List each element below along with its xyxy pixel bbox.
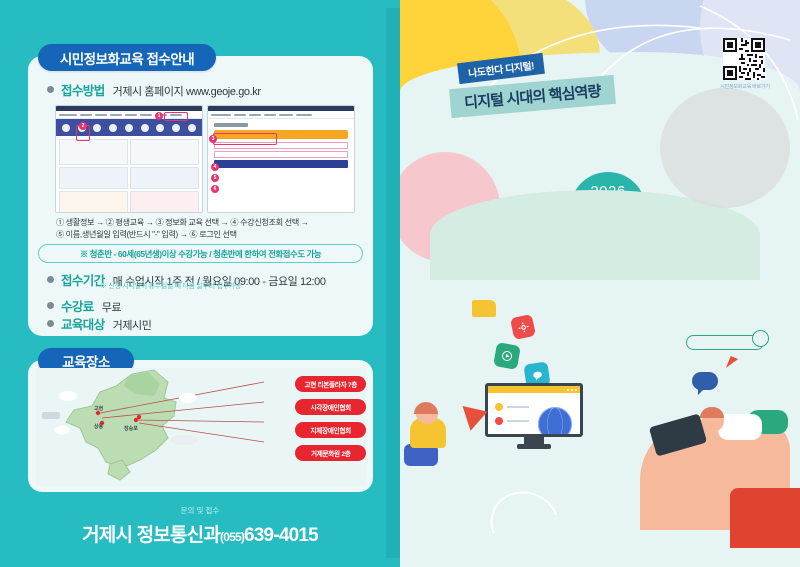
step-marker-4: 4	[211, 163, 219, 171]
site-nav	[208, 111, 354, 119]
person-pushing-arrow	[404, 404, 452, 464]
monitor-screen	[485, 383, 583, 437]
highlight-apply-button	[213, 133, 277, 145]
period-note: ※ 신청 시작일이 휴무일일 때 다음 날부터 접수가능	[100, 281, 241, 291]
svg-text:장승포: 장승포	[124, 425, 138, 432]
homepage-widgets	[56, 136, 202, 213]
list-dot-icon	[495, 417, 503, 425]
person-body	[718, 414, 762, 440]
highlight-nav-item	[164, 112, 188, 121]
qr-caption: 시민정보화교육 바로가기	[700, 84, 790, 92]
bullet-icon	[47, 276, 54, 283]
search-icon	[752, 330, 769, 347]
decorative-blob	[660, 88, 790, 208]
list-line	[507, 420, 529, 422]
contact-phone: 639-4015	[244, 525, 318, 546]
pointer-cursor-icon	[726, 356, 738, 371]
qr-code[interactable]	[723, 38, 765, 80]
globe-icon	[538, 407, 572, 437]
notice-banner: ※ 청춘반 - 60세(65년생)이상 수강가능 / 청춘반에 한하여 전화접수…	[38, 244, 363, 263]
location-label: 고현 리본플라자 7층	[295, 376, 366, 392]
contact-caption: 문의 및 접수	[0, 505, 400, 516]
birthdate-field	[214, 151, 348, 158]
settings-tile-icon	[510, 314, 536, 340]
person-hair	[700, 407, 724, 418]
contact-area-code: (055)	[220, 530, 244, 544]
monitor-base	[517, 444, 551, 449]
page-heading-bar	[208, 119, 354, 127]
brochure-page: 시민정보화교육 접수안내 접수방법 거제시 홈페이지 www.geoje.go.…	[0, 0, 800, 567]
target-value: 거제시민	[113, 317, 152, 333]
monitor-illustration	[485, 383, 583, 447]
speech-bubble-icon	[530, 368, 545, 383]
monitor-stand	[524, 437, 544, 444]
bullet-icon	[47, 86, 54, 93]
svg-text:상동: 상동	[94, 423, 104, 430]
gear-icon	[516, 320, 529, 333]
bullet-icon	[47, 320, 54, 327]
steps-line-1: ① 생활정보 → ② 평생교육 → ③ 정보화 교육 선택 → ④ 수강신청조회…	[56, 217, 356, 229]
method-row: 접수방법 거제시 홈페이지 www.geoje.go.kr	[47, 80, 261, 99]
location-label: 거제문화원 2층	[295, 445, 366, 461]
contact-department: 거제시 정보통신과	[82, 525, 220, 546]
target-label: 교육대상	[61, 314, 105, 333]
screenshot-homepage: 1 2	[55, 105, 203, 213]
location-label: 지체장애인협회	[295, 422, 366, 438]
contact-block: 문의 및 접수 거제시 정보통신과(055)639-4015	[0, 505, 400, 547]
person-on-phone	[692, 406, 782, 456]
map-location-labels: 고현 리본플라자 7층 시각장애인협회 지체장애인협회 거제문화원 2층	[295, 376, 366, 461]
contact-line: 거제시 정보통신과(055)639-4015	[0, 520, 400, 547]
fee-label: 수강료	[61, 296, 94, 315]
target-row: 교육대상 거제시민	[47, 314, 152, 333]
period-label: 접수기간	[61, 270, 105, 289]
step-marker-6: 6	[211, 185, 219, 193]
list-line	[507, 406, 529, 408]
geoje-map: 고현 상동 장승포 고현 리본플라자 7층 시각장애인협회 지체장애인협회 거제…	[36, 368, 366, 486]
person-hair	[414, 402, 438, 414]
website-screenshots: 1 2 3 4 5 6	[55, 105, 355, 213]
step-marker-5: 5	[211, 174, 219, 182]
speech-bubble-icon	[692, 372, 718, 390]
steps-text: ① 생활정보 → ② 평생교육 → ③ 정보화 교육 선택 → ④ 수강신청조회…	[56, 217, 356, 242]
registration-badge: 시민정보화교육 접수안내	[38, 44, 216, 71]
left-panel: 시민정보화교육 접수안내 접수방법 거제시 홈페이지 www.geoje.go.…	[0, 0, 400, 567]
steps-line-2: ⑤ 이름,생년월일 입력(반드시 "-" 입력) → ⑥ 로그인 선택	[56, 229, 356, 241]
play-icon	[500, 349, 514, 363]
method-label: 접수방법	[61, 80, 105, 99]
step-marker-2: 2	[79, 122, 87, 130]
fee-value: 무료	[102, 299, 121, 315]
location-label: 시각장애인협회	[295, 399, 366, 415]
sleeve	[730, 488, 800, 548]
browser-chrome-bar	[488, 386, 580, 393]
fee-row: 수강료 무료	[47, 296, 121, 315]
login-button	[214, 160, 348, 168]
method-value: 거제시 홈페이지 www.geoje.go.kr	[113, 83, 261, 99]
panel-edge	[386, 8, 400, 558]
decorative-swirl	[480, 480, 570, 567]
screenshot-application: 3 4 5 6	[207, 105, 355, 213]
folder-icon	[472, 300, 496, 317]
qr-code-icon	[723, 38, 765, 80]
list-dot-icon	[495, 403, 503, 411]
step-marker-3: 3	[209, 135, 217, 143]
svg-text:고현: 고현	[94, 405, 104, 412]
step-marker-1: 1	[155, 112, 163, 120]
bullet-icon	[47, 302, 54, 309]
video-tile-icon	[493, 342, 521, 370]
